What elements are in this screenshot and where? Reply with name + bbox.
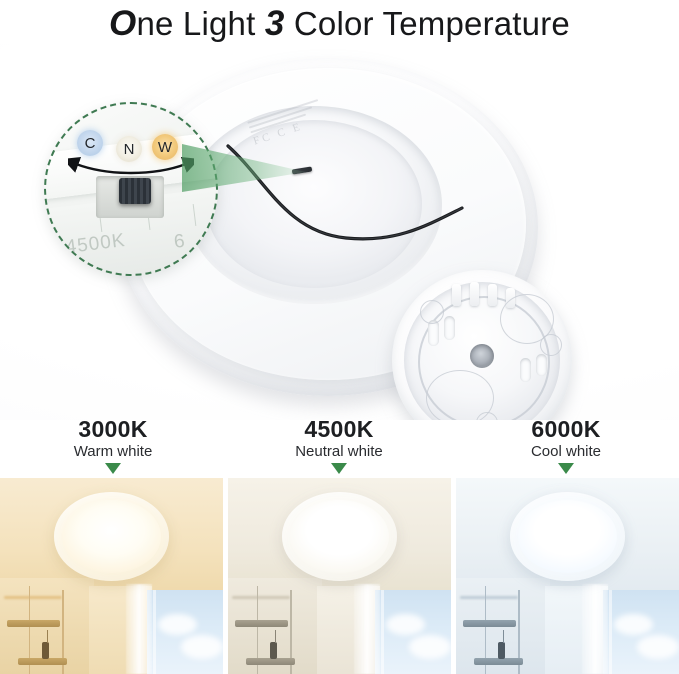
bracket-clip <box>488 284 497 306</box>
bracket-keyhole <box>444 316 455 340</box>
kelvin-value-neutral: 4500K <box>226 416 452 442</box>
kelvin-name-warm: Warm white <box>0 442 226 461</box>
window-mullion-cool <box>609 590 612 674</box>
title-part-one: O <box>109 4 136 43</box>
shelf-neutral <box>246 658 295 665</box>
bracket-keyhole <box>536 354 547 376</box>
title-part-three: 3 <box>265 4 285 43</box>
bracket-screw-ring <box>420 300 444 324</box>
bracket-clip <box>470 282 479 306</box>
product-infographic: One Light 3 Color Temperature FC C E <box>0 0 679 674</box>
product-hero-image: FC C E 4500K <box>0 44 679 420</box>
badge-warm-label: W <box>158 139 172 156</box>
title-part-two: ne Light <box>136 5 264 42</box>
window-neutral <box>375 590 451 674</box>
plant-stem-neutral <box>275 630 276 643</box>
shelf-warm <box>7 620 61 627</box>
bracket-keyhole <box>520 358 531 382</box>
vase-cool <box>498 642 505 659</box>
title-part-four: Color Temperature <box>285 5 570 42</box>
marker-triangle-warm <box>105 463 121 474</box>
kelvin-value-cool: 6000K <box>453 416 679 442</box>
badge-neutral: N <box>116 136 142 162</box>
curtain-cool <box>582 584 608 674</box>
kelvin-name-neutral: Neutral white <box>226 442 452 461</box>
ceiling-lamp-cool <box>510 492 626 581</box>
plant-stem-warm <box>47 630 48 643</box>
temperature-label-neutral: 4500K Neutral white <box>226 416 452 474</box>
plant-stem-cool <box>503 630 504 643</box>
cove-light-warm <box>4 596 62 599</box>
room-panel-warm <box>0 478 223 674</box>
badge-cool: C <box>77 130 103 156</box>
vase-warm <box>42 642 49 659</box>
temperature-label-cool: 6000K Cool white <box>453 416 679 474</box>
curtain-warm <box>126 584 152 674</box>
callout-pointer-cone <box>180 138 312 200</box>
cove-light-cool <box>460 596 518 599</box>
bracket-clip <box>452 284 461 306</box>
badge-warm: W <box>152 134 178 160</box>
window-cool <box>603 590 679 674</box>
window-warm <box>147 590 223 674</box>
shelf-cool <box>474 658 523 665</box>
window-mullion-neutral <box>381 590 384 674</box>
badge-neutral-label: N <box>124 141 135 158</box>
bracket-center-hole <box>470 344 494 368</box>
window-mullion-warm <box>153 590 156 674</box>
marker-triangle-cool <box>558 463 574 474</box>
badge-cool-label: C <box>85 135 96 152</box>
shelf-warm <box>18 658 67 665</box>
ceiling-lamp-neutral <box>282 492 398 581</box>
page-title: One Light 3 Color Temperature <box>0 2 679 48</box>
vase-neutral <box>270 642 277 659</box>
bracket-knockout <box>426 370 494 420</box>
bracket-knockout <box>500 294 554 344</box>
temperature-labels: 3000K Warm white 4500K Neutral white 600… <box>0 416 679 478</box>
cove-light-neutral <box>232 596 290 599</box>
temperature-label-warm: 3000K Warm white <box>0 416 226 474</box>
kelvin-name-cool: Cool white <box>453 442 679 461</box>
callout-scale-6000k: 6 <box>173 231 187 254</box>
room-panel-cool <box>456 478 679 674</box>
shelf-neutral <box>235 620 289 627</box>
shelf-cool <box>463 620 517 627</box>
callout-scale-4500k: 4500K <box>65 230 127 259</box>
curtain-neutral <box>354 584 380 674</box>
room-panel-neutral <box>228 478 451 674</box>
marker-triangle-neutral <box>331 463 347 474</box>
kelvin-value-warm: 3000K <box>0 416 226 442</box>
ceiling-lamp-warm <box>54 492 170 581</box>
room-preview-panels <box>0 478 679 674</box>
